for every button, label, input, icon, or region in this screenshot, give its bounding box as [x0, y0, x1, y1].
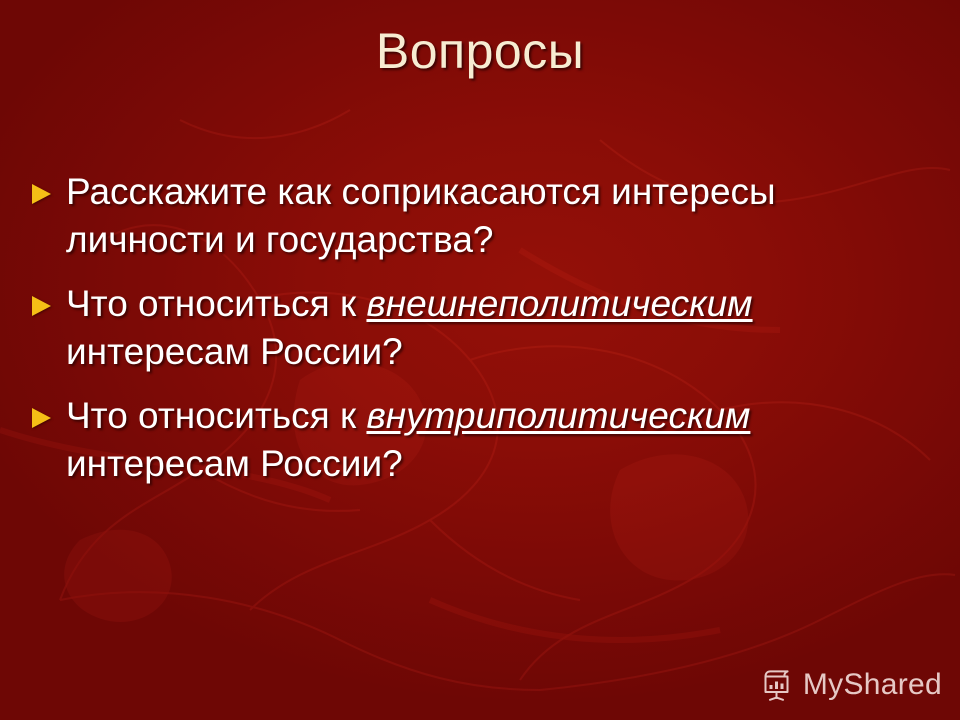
- presentation-chart-icon: [760, 668, 794, 702]
- list-item: Расскажите как соприкасаются интересы ли…: [28, 168, 933, 264]
- list-item-emphasis: внутриполитическим: [366, 395, 750, 436]
- list-item-text: Что относиться к: [66, 283, 366, 324]
- triangle-right-icon: [32, 408, 51, 428]
- page-title: Вопросы: [0, 22, 960, 80]
- list-item-text-tail: интересам России?: [66, 331, 403, 372]
- myshared-label: MyShared: [803, 669, 942, 701]
- triangle-right-icon: [32, 296, 51, 316]
- myshared-watermark[interactable]: MyShared: [760, 668, 942, 702]
- list-item-text: Расскажите как соприкасаются интересы ли…: [66, 171, 776, 260]
- triangle-right-icon: [32, 184, 51, 204]
- list-item-text-tail: интересам России?: [66, 443, 403, 484]
- list-item: Что относиться к внутриполитическим инте…: [28, 392, 933, 488]
- bullet-list: Расскажите как соприкасаются интересы ли…: [28, 168, 933, 488]
- list-item-emphasis: внешнеполитическим: [366, 283, 752, 324]
- list-item-text: Что относиться к: [66, 395, 366, 436]
- list-item: Что относиться к внешнеполитическим инте…: [28, 280, 933, 376]
- presentation-slide: Вопросы Расскажите как соприкасаются инт…: [0, 0, 960, 720]
